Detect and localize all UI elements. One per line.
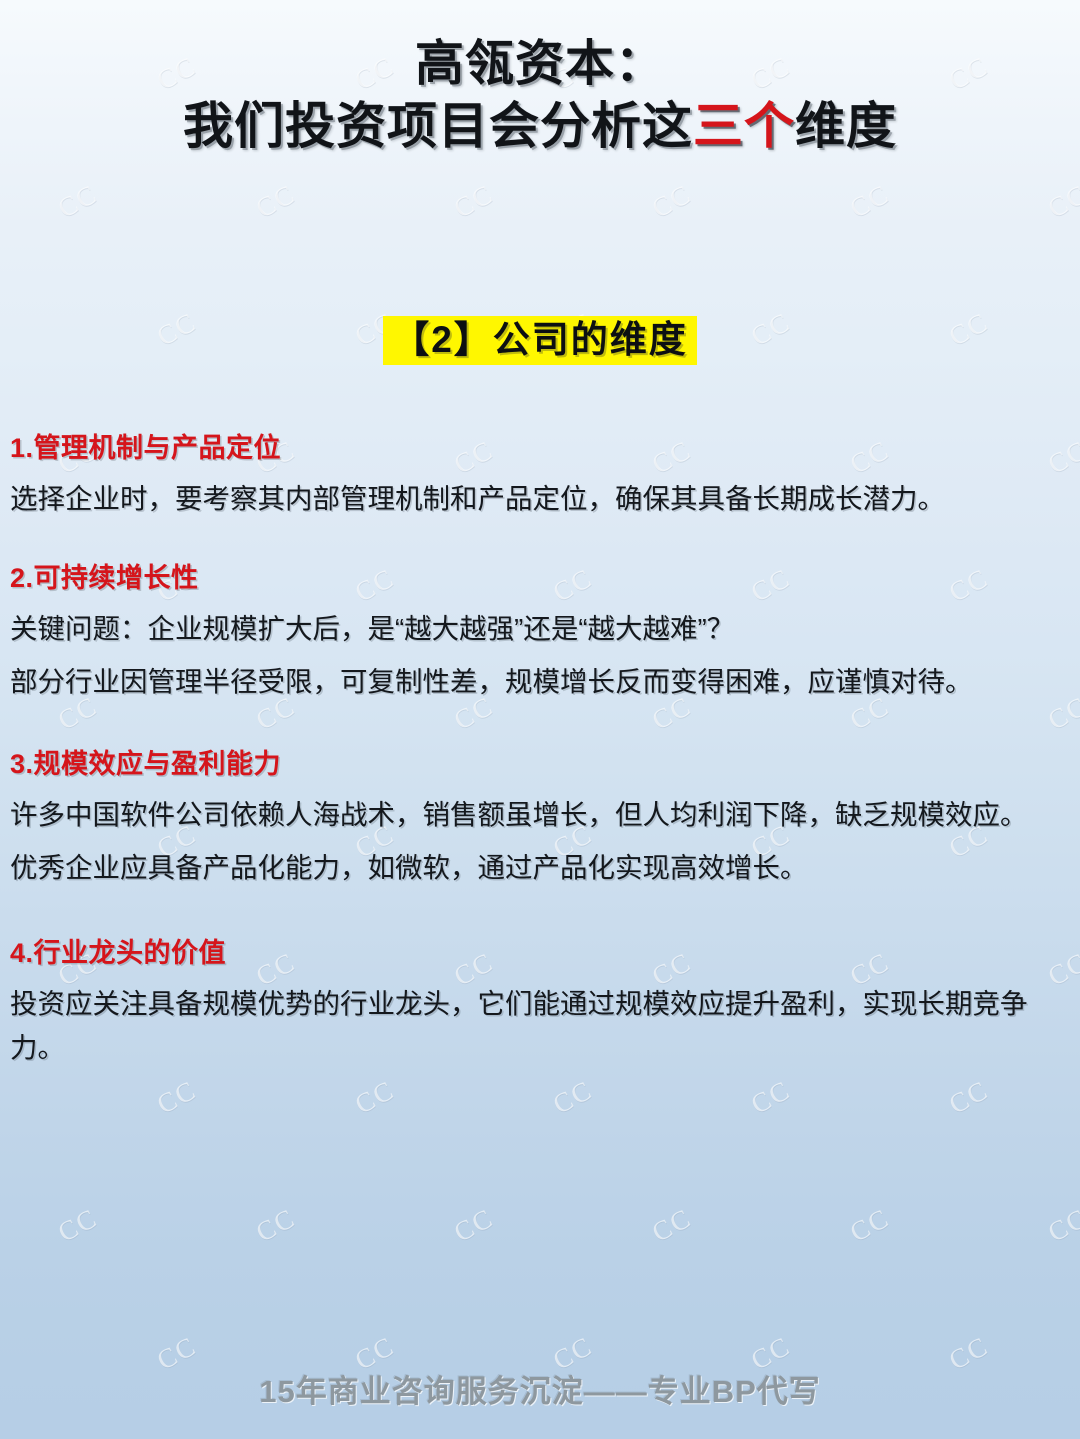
watermark-mark: CC: [944, 1074, 994, 1120]
watermark-mark: CC: [53, 1202, 103, 1248]
section-3-heading: 3.规模效应与盈利能力: [10, 748, 1074, 782]
subheading-highlight: 【2】公司的维度: [383, 316, 697, 365]
watermark-mark: CC: [845, 1202, 895, 1248]
section-3-paragraph-1: 许多中国软件公司依赖人海战术，销售额虽增长，但人均利润下降，缺乏规模效应。: [10, 793, 1074, 836]
watermark-mark: CC: [746, 1074, 796, 1120]
watermark-mark: CC: [647, 1202, 697, 1248]
section-1: 1.管理机制与产品定位 选择企业时，要考察其内部管理机制和产品定位，确保其具备长…: [10, 432, 1074, 520]
section-4: 4.行业龙头的价值 投资应关注具备规模优势的行业龙头，它们能通过规模效应提升盈利…: [10, 937, 1074, 1069]
watermark-mark: CC: [251, 1202, 301, 1248]
watermark-mark: CC: [1043, 1202, 1080, 1248]
watermark-mark: CC: [449, 1202, 499, 1248]
section-3-paragraph-2: 优秀企业应具备产品化能力，如微软，通过产品化实现高效增长。: [10, 846, 1074, 889]
watermark-mark: CC: [845, 178, 895, 224]
page-title: 高瓴资本： 我们投资项目会分析这三个维度: [0, 36, 1080, 156]
watermark-mark: CC: [1043, 178, 1080, 224]
title-line-2-after: 维度: [795, 98, 897, 154]
watermark-mark: CC: [350, 1074, 400, 1120]
section-2-paragraph-1: 关键问题：企业规模扩大后，是“越大越强”还是“越大越难”？: [10, 607, 1074, 650]
section-2: 2.可持续增长性 关键问题：企业规模扩大后，是“越大越强”还是“越大越难”？ 部…: [10, 562, 1074, 704]
watermark-mark: CC: [449, 178, 499, 224]
footer: 15年商业咨询服务沉淀——专业BP代写: [0, 1366, 1080, 1411]
watermark-mark: CC: [53, 178, 103, 224]
section-1-paragraph-1: 选择企业时，要考察其内部管理机制和产品定位，确保其具备长期成长潜力。: [10, 477, 1074, 520]
subheading-container: 【2】公司的维度: [0, 316, 1080, 365]
watermark-mark: CC: [251, 178, 301, 224]
watermark-mark: CC: [548, 1074, 598, 1120]
section-1-heading: 1.管理机制与产品定位: [10, 432, 1074, 466]
section-4-heading: 4.行业龙头的价值: [10, 937, 1074, 971]
footer-tagline: 15年商业咨询服务沉淀——专业BP代写: [259, 1374, 821, 1409]
section-2-paragraph-2: 部分行业因管理半径受限，可复制性差，规模增长反而变得困难，应谨慎对待。: [10, 660, 1074, 703]
section-2-heading: 2.可持续增长性: [10, 562, 1074, 596]
title-accent-text: 三个: [693, 98, 795, 154]
watermark-mark: CC: [0, 1074, 4, 1120]
section-4-paragraph-1: 投资应关注具备规模优势的行业龙头，它们能通过规模效应提升盈利，实现长期竞争力。: [10, 982, 1074, 1069]
watermark-mark: CC: [152, 1074, 202, 1120]
title-line-2: 我们投资项目会分析这三个维度: [0, 98, 1080, 156]
title-line-2-before: 我们投资项目会分析这: [183, 98, 693, 154]
title-line-1: 高瓴资本：: [0, 36, 1080, 92]
content-body: 1.管理机制与产品定位 选择企业时，要考察其内部管理机制和产品定位，确保其具备长…: [0, 432, 1080, 1069]
poster-page: CCCCCCCCCCCCCCCCCCCCCCCCCCCCCCCCCCCCCCCC…: [0, 0, 1080, 1439]
section-3: 3.规模效应与盈利能力 许多中国软件公司依赖人海战术，销售额虽增长，但人均利润下…: [10, 748, 1074, 890]
watermark-mark: CC: [647, 178, 697, 224]
